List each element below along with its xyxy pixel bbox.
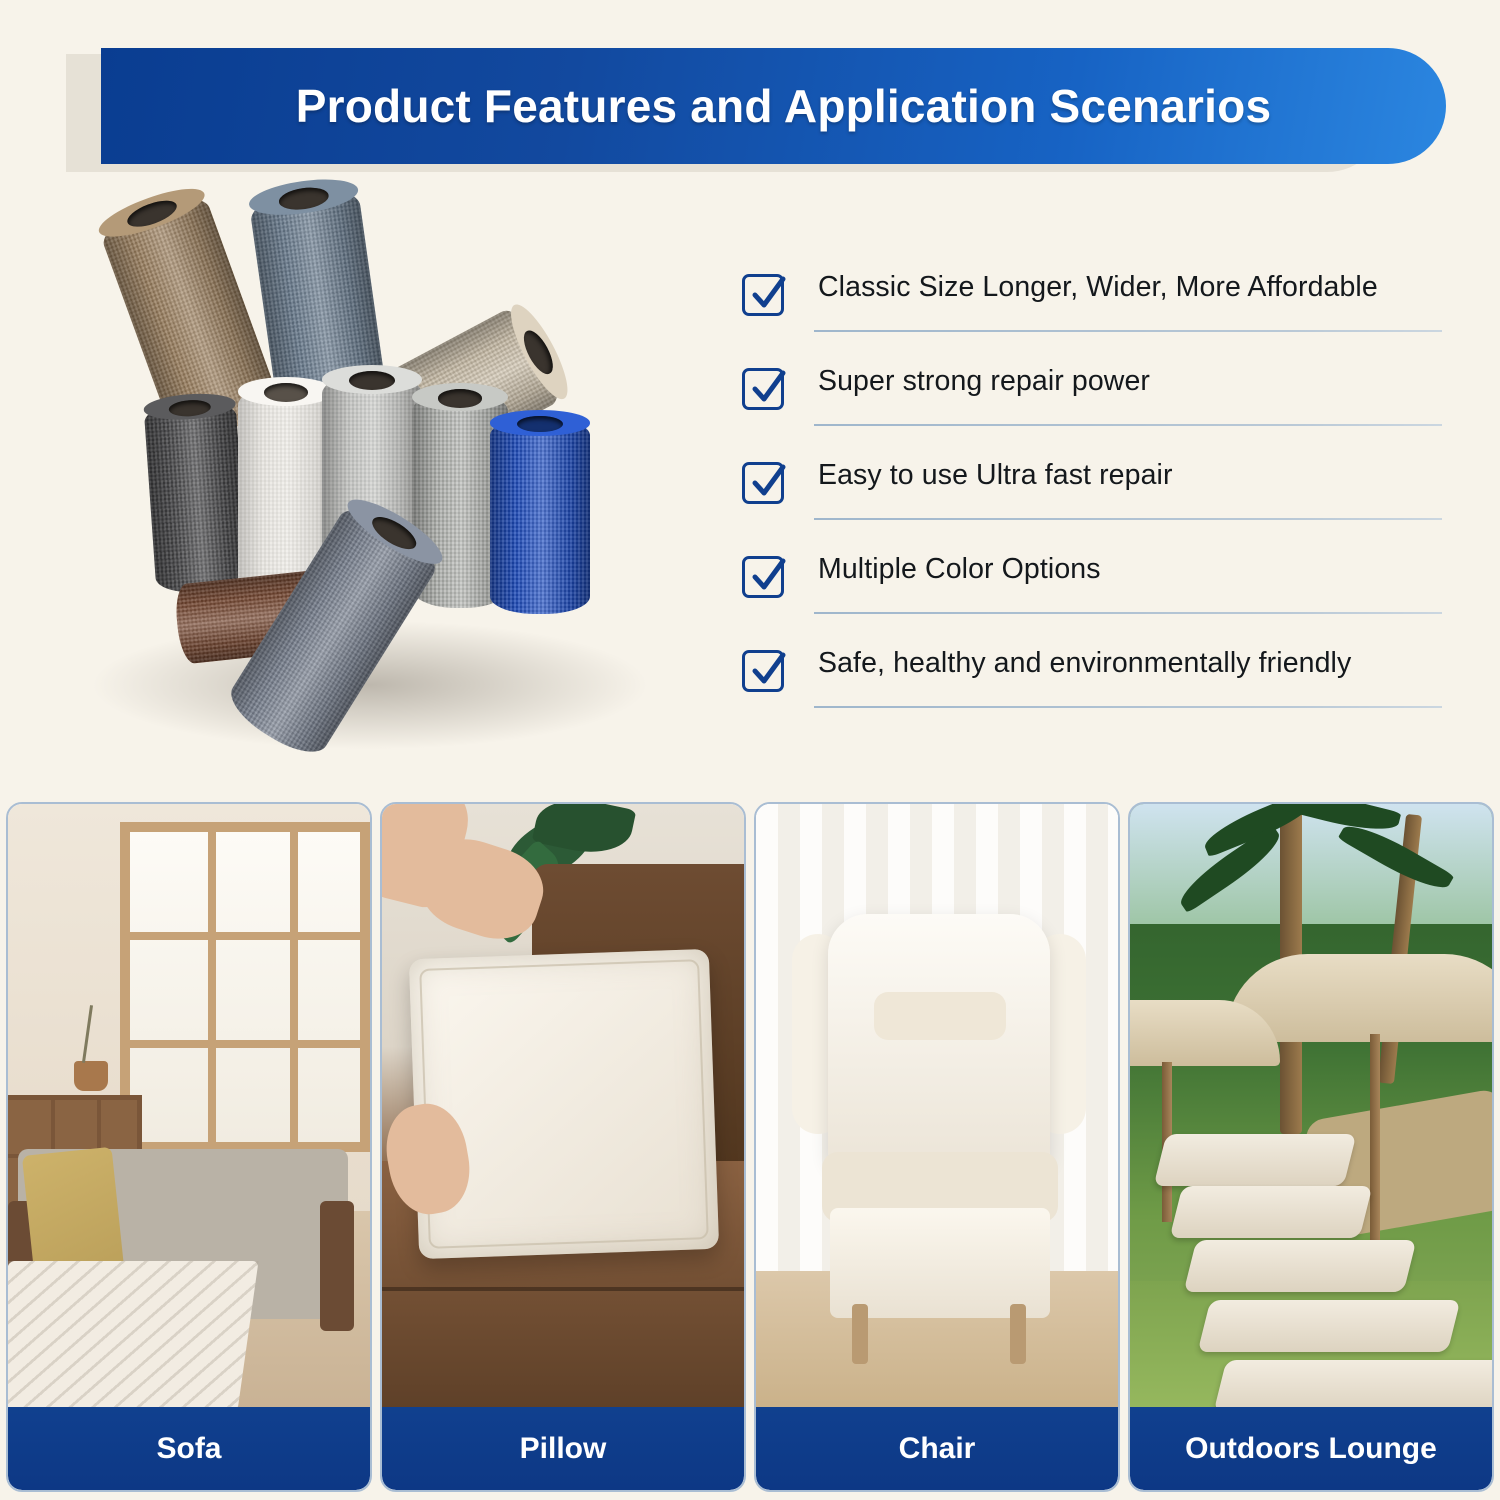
feature-divider xyxy=(814,424,1442,426)
checkbox-icon xyxy=(742,462,784,504)
product-infographic-page: Product Features and Application Scenari… xyxy=(0,0,1500,1500)
feature-item-4: Multiple Color Options xyxy=(742,540,1442,634)
branch-graphic xyxy=(82,1005,93,1063)
header-bar: Product Features and Application Scenari… xyxy=(101,48,1446,164)
scenario-card-chair[interactable]: Chair xyxy=(754,802,1120,1492)
scenario-card-outdoors-lounge[interactable]: Outdoors Lounge xyxy=(1128,802,1494,1492)
scenario-photo-outdoors-lounge xyxy=(1130,804,1492,1411)
scenario-photo-pillow xyxy=(382,804,744,1411)
feature-divider xyxy=(814,706,1442,708)
chair-leg-graphic xyxy=(852,1304,868,1364)
lounger-graphic xyxy=(1214,1360,1492,1411)
check-mark-icon xyxy=(749,463,789,503)
feature-divider xyxy=(814,330,1442,332)
rug-graphic xyxy=(8,1261,259,1411)
scenario-label-pillow: Pillow xyxy=(382,1407,744,1490)
vase-graphic xyxy=(74,1061,108,1091)
chair-skirt-graphic xyxy=(830,1208,1050,1318)
check-mark-icon xyxy=(749,369,789,409)
check-mark-icon xyxy=(749,651,789,691)
lounger-graphic xyxy=(1198,1300,1461,1352)
product-image xyxy=(60,190,720,790)
lounger-graphic xyxy=(1170,1186,1373,1238)
feature-item-2: Super strong repair power xyxy=(742,352,1442,446)
scenario-label-sofa: Sofa xyxy=(8,1407,370,1490)
feature-item-3: Easy to use Ultra fast repair xyxy=(742,446,1442,540)
headrest-pillow-graphic xyxy=(874,992,1006,1040)
feature-label: Multiple Color Options xyxy=(818,548,1442,590)
roll-royal-blue xyxy=(490,418,590,614)
lounger-graphic xyxy=(1154,1134,1357,1186)
checkbox-icon xyxy=(742,274,784,316)
checkbox-icon xyxy=(742,556,784,598)
scenario-card-pillow[interactable]: Pillow xyxy=(380,802,746,1492)
feature-label: Safe, healthy and environmentally friend… xyxy=(818,642,1442,684)
checkbox-icon xyxy=(742,650,784,692)
leather-seam-graphic xyxy=(382,1287,744,1291)
feature-label: Easy to use Ultra fast repair xyxy=(818,454,1442,496)
scenario-card-sofa[interactable]: Sofa xyxy=(6,802,372,1492)
sofa-arm-graphic xyxy=(320,1201,354,1331)
feature-label: Super strong repair power xyxy=(818,360,1442,402)
pillow-graphic xyxy=(409,949,719,1259)
roll-dark-charcoal xyxy=(143,399,248,595)
check-mark-icon xyxy=(749,275,789,315)
window-graphic xyxy=(120,822,370,1152)
feature-label: Classic Size Longer, Wider, More Afforda… xyxy=(818,266,1442,308)
feature-item-5: Safe, healthy and environmentally friend… xyxy=(742,634,1442,728)
chair-leg-graphic xyxy=(1010,1304,1026,1364)
lounger-graphic xyxy=(1184,1240,1417,1292)
scenario-photo-sofa xyxy=(8,804,370,1411)
checkbox-icon xyxy=(742,368,784,410)
scenario-label-chair: Chair xyxy=(756,1407,1118,1490)
header-banner: Product Features and Application Scenari… xyxy=(0,48,1500,178)
page-title: Product Features and Application Scenari… xyxy=(276,79,1271,133)
scenario-photo-chair xyxy=(756,804,1118,1411)
feature-divider xyxy=(814,612,1442,614)
check-mark-icon xyxy=(749,557,789,597)
feature-item-1: Classic Size Longer, Wider, More Afforda… xyxy=(742,258,1442,352)
scenario-label-outdoors-lounge: Outdoors Lounge xyxy=(1130,1407,1492,1490)
feature-divider xyxy=(814,518,1442,520)
scenario-cards: Sofa xyxy=(6,802,1494,1492)
features-list: Classic Size Longer, Wider, More Afforda… xyxy=(742,258,1442,728)
